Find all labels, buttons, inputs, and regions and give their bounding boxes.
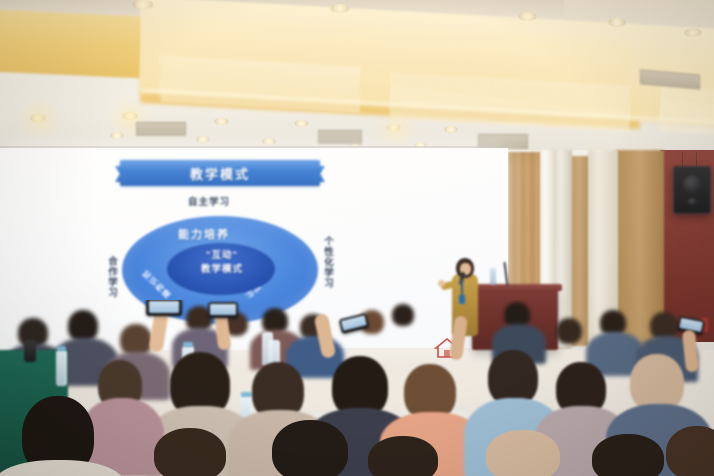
slide-title-text: 教学模式 xyxy=(190,164,250,183)
phone-screen xyxy=(149,301,179,313)
ceiling xyxy=(0,0,714,152)
slide-inner-line-1: "互动" xyxy=(176,249,268,263)
downlight xyxy=(262,138,276,145)
slide-inner-line-2: 教学模式 xyxy=(176,263,268,277)
downlight xyxy=(214,118,229,125)
audience-phone xyxy=(146,300,182,316)
audience-head-foreground xyxy=(486,430,560,476)
downlight-glow xyxy=(372,112,420,148)
slide-title-banner: 教学模式 xyxy=(120,160,320,186)
audience-head-foreground xyxy=(368,436,438,476)
presenter-lanyard xyxy=(461,280,463,296)
audience-head-foreground xyxy=(154,428,226,476)
slide-label-top: 自主学习 xyxy=(188,194,230,208)
water-bottle xyxy=(56,350,67,386)
bottle-cap xyxy=(241,392,252,397)
slide-outer-ellipse-label: 能力培养 xyxy=(178,226,230,242)
audience-head-foreground xyxy=(666,426,714,476)
phone-screen xyxy=(210,304,236,315)
bottle-cap xyxy=(57,346,66,351)
downlight xyxy=(444,126,458,133)
speaker-tweeter-icon xyxy=(688,198,697,205)
downlight xyxy=(196,136,210,143)
ceiling-air-vent xyxy=(318,130,362,144)
audience-area: 黄资荣 xyxy=(0,300,714,476)
slide-inner-ellipse-label: "互动" 教学模式 xyxy=(176,249,268,277)
audience-head-foreground xyxy=(592,434,664,476)
table-thermos xyxy=(24,340,36,362)
phone-screen xyxy=(341,315,367,331)
downlight xyxy=(518,12,537,21)
audience-head xyxy=(556,318,582,344)
conference-photo-stage: 教学模式 自主学习 合作学习 个性化学习 师生互动 能力培养 知识构建 素养提升… xyxy=(0,0,714,476)
downlight xyxy=(294,120,309,127)
audience-phone xyxy=(208,302,238,318)
pa-speaker xyxy=(673,166,711,214)
downlight xyxy=(132,0,154,9)
audience-head xyxy=(392,304,414,326)
podium-water-bottle xyxy=(490,268,496,285)
ceiling-air-vent xyxy=(136,122,186,136)
speaker-cone-icon xyxy=(683,175,702,194)
presenter-hand xyxy=(438,280,445,287)
downlight xyxy=(608,18,626,27)
slide-label-left: 合作学习 xyxy=(104,256,118,298)
slide-label-right: 个性化学习 xyxy=(320,236,334,289)
downlight xyxy=(330,4,350,13)
audience-head-foreground xyxy=(272,420,348,476)
downlight-glow xyxy=(14,100,66,138)
audience-raised-arm xyxy=(449,315,468,360)
downlight xyxy=(684,28,702,37)
podium-top-surface xyxy=(468,284,562,291)
bottle-cap xyxy=(183,342,193,347)
chandelier-drop xyxy=(660,86,714,145)
